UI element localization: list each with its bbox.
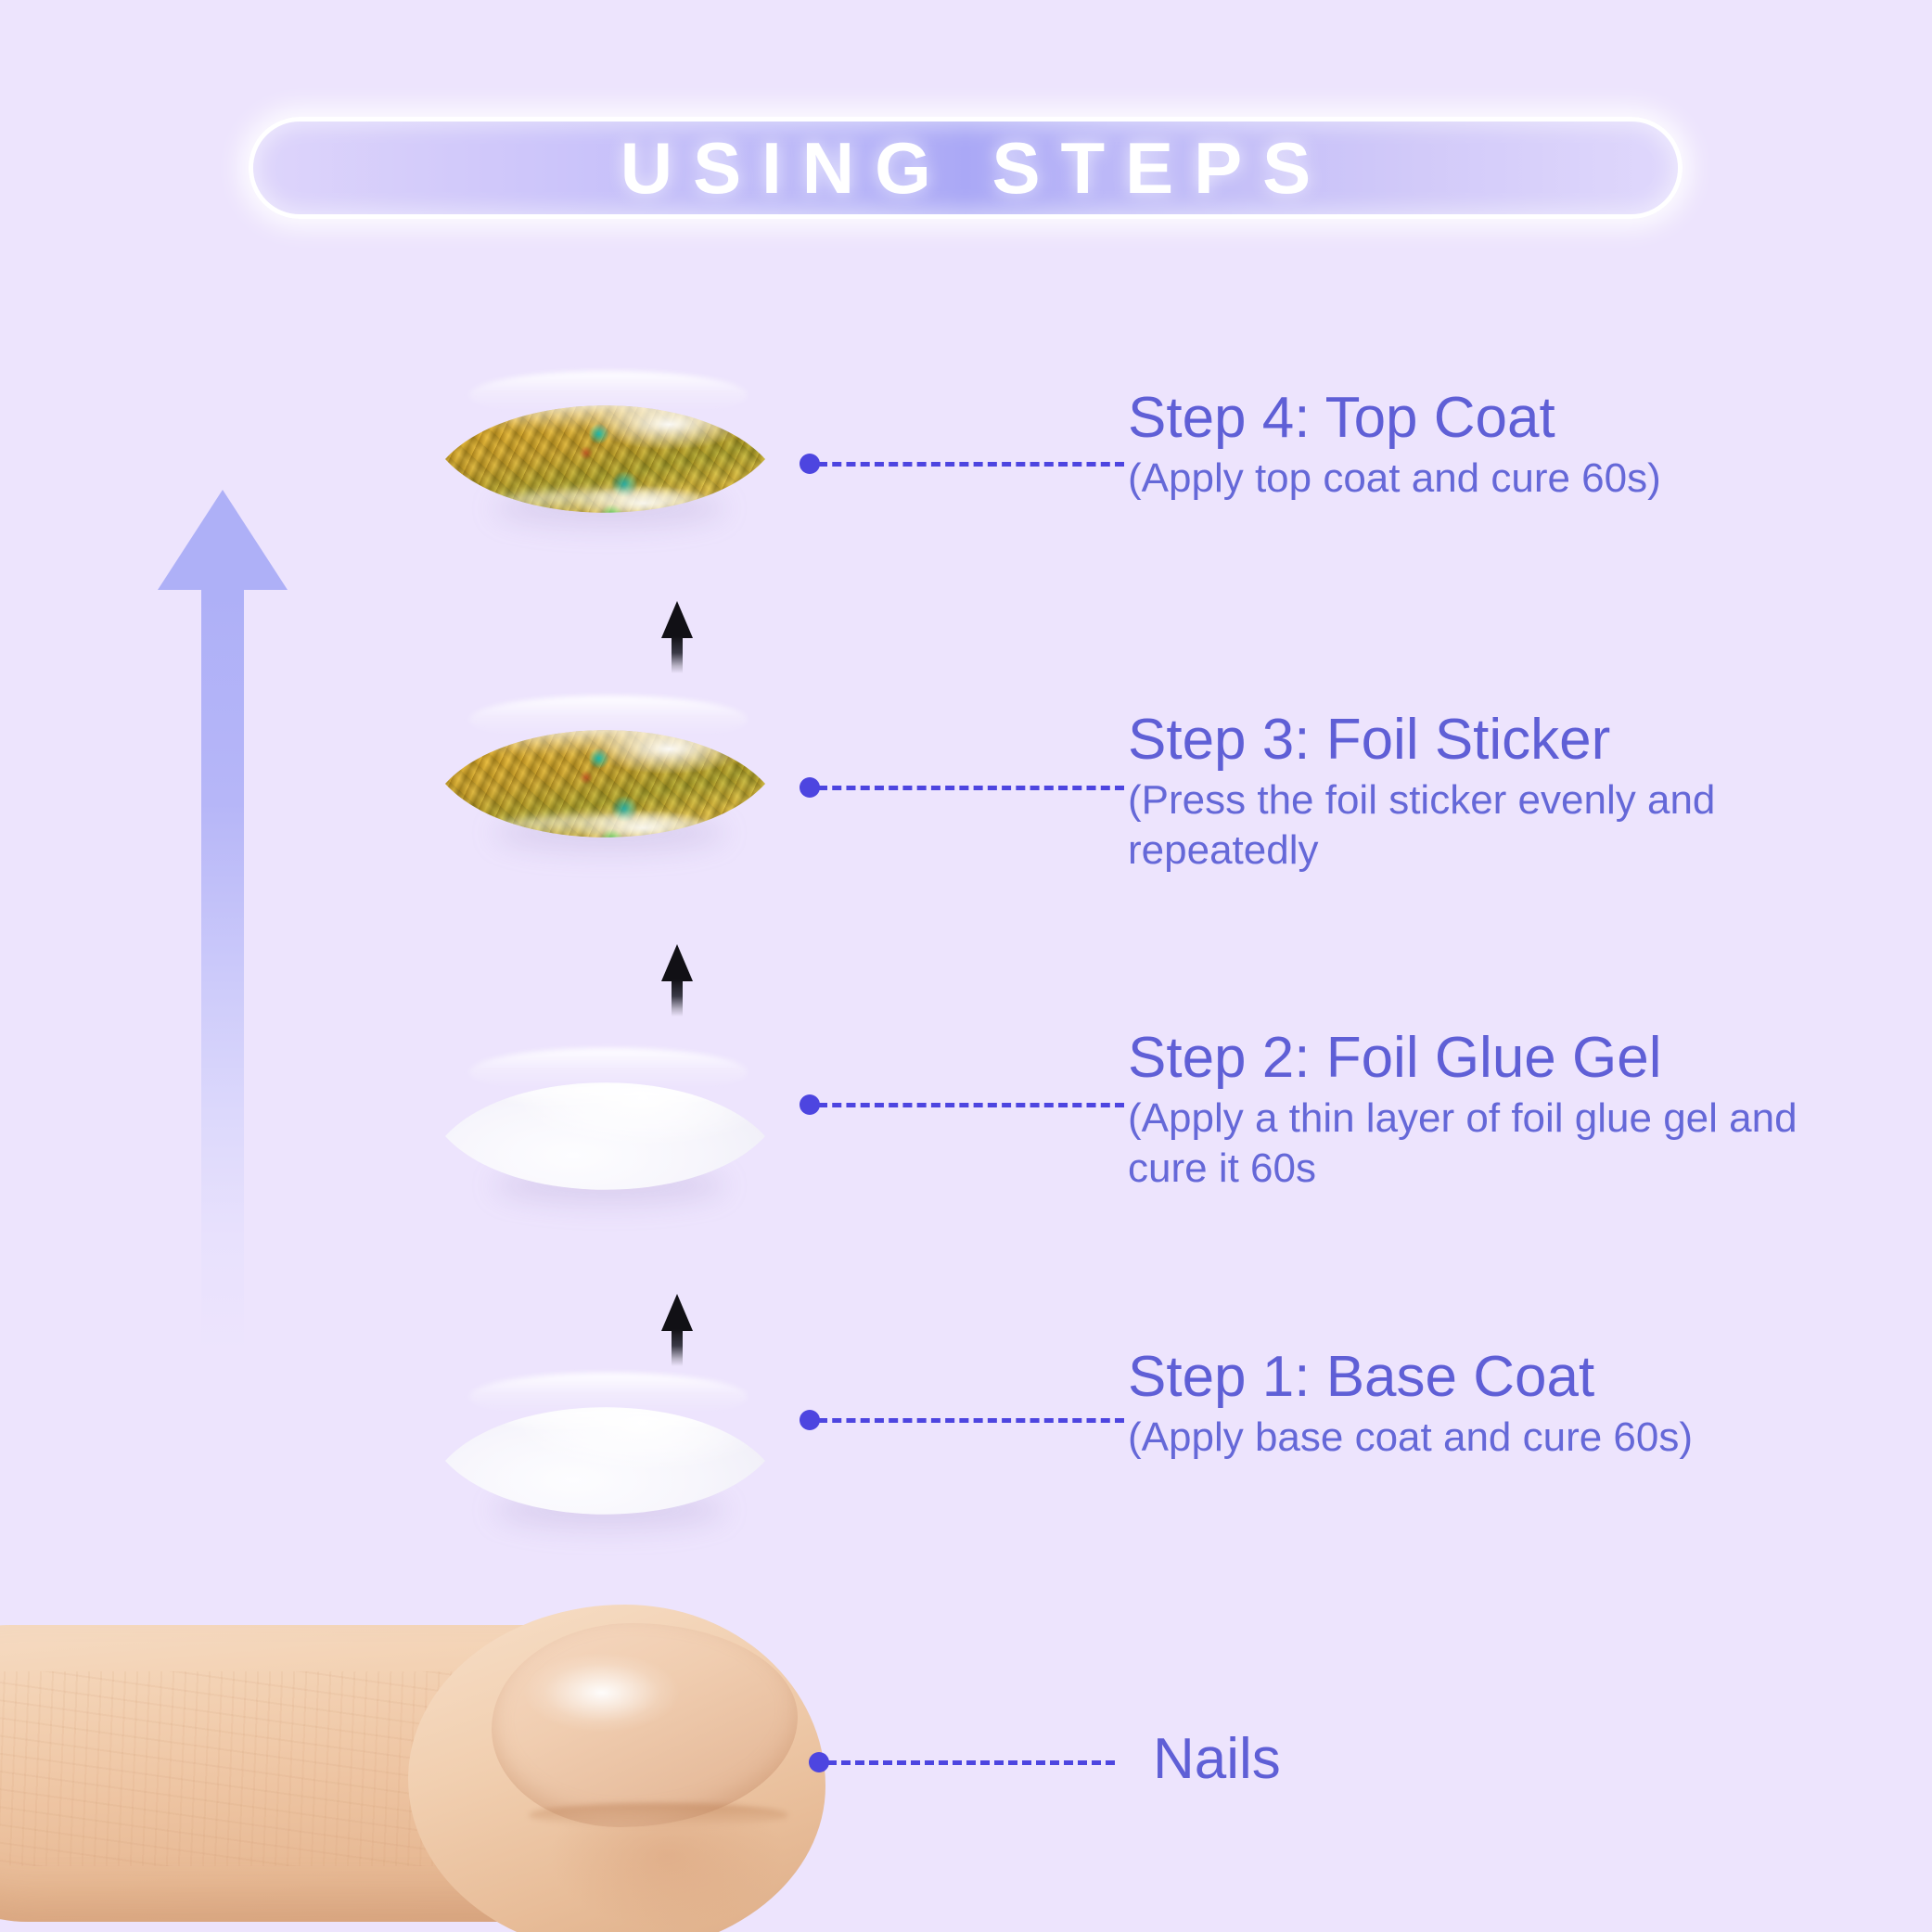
step-subtitle-4: (Apply top coat and cure 60s)	[1128, 454, 1661, 504]
glossy-rim	[469, 1048, 748, 1096]
step-title-4: Step 4: Top Coat	[1128, 388, 1661, 450]
infographic-canvas: USING STEPS Step 4: Top Coat (Apply top …	[0, 0, 1932, 1932]
flow-arrow-shaft	[672, 636, 683, 673]
step-subtitle-2: (Apply a thin layer of foil glue gel and…	[1128, 1094, 1814, 1193]
flow-arrow-1-to-2	[661, 1294, 693, 1366]
top-coat-foil-nail-layer	[445, 380, 765, 538]
nail-edge	[529, 1803, 788, 1827]
leader-line-step-3	[800, 777, 1124, 798]
glossy-rim	[469, 1373, 748, 1421]
leader-dash	[827, 1760, 1115, 1765]
flow-arrow-3-to-4	[661, 601, 693, 673]
leader-dash	[818, 786, 1124, 790]
base-coat-nail-layer	[445, 1382, 765, 1540]
flow-arrow-shaft	[672, 1329, 683, 1366]
glossy-rim	[469, 371, 748, 419]
step-subtitle-3: (Press the foil sticker evenly and repea…	[1128, 775, 1814, 875]
fingertip-photo	[0, 1582, 853, 1932]
header-title: USING STEPS	[600, 132, 1331, 204]
flow-arrow-head	[661, 944, 693, 981]
step-block-3: Step 3: Foil Sticker (Press the foil sti…	[1128, 710, 1814, 875]
leader-dot	[800, 1094, 820, 1115]
step-title-3: Step 3: Foil Sticker	[1128, 710, 1814, 772]
step-block-4: Step 4: Top Coat (Apply top coat and cur…	[1128, 388, 1661, 504]
step-title-1: Step 1: Base Coat	[1128, 1347, 1693, 1409]
upward-progress-arrow	[158, 490, 288, 1352]
foil-sticker-nail-layer	[445, 705, 765, 863]
flow-arrow-head	[661, 601, 693, 638]
step-block-2: Step 2: Foil Glue Gel (Apply a thin laye…	[1128, 1028, 1814, 1193]
leader-dot	[800, 1410, 820, 1430]
nails-label: Nails	[1153, 1731, 1281, 1788]
progress-arrow-head	[158, 490, 288, 590]
step-block-1: Step 1: Base Coat (Apply base coat and c…	[1128, 1347, 1693, 1463]
step-subtitle-1: (Apply base coat and cure 60s)	[1128, 1413, 1693, 1463]
leader-dash	[818, 1418, 1124, 1423]
leader-line-step-4	[800, 454, 1124, 474]
glossy-rim	[469, 696, 748, 744]
leader-dot	[800, 454, 820, 474]
leader-dot	[809, 1752, 829, 1772]
progress-arrow-shaft	[201, 588, 244, 1352]
leader-dash	[818, 1103, 1124, 1107]
leader-line-nails	[809, 1752, 1115, 1772]
leader-line-step-2	[800, 1094, 1124, 1115]
leader-dash	[818, 462, 1124, 467]
flow-arrow-2-to-3	[661, 944, 693, 1017]
flow-arrow-head	[661, 1294, 693, 1331]
flow-arrow-shaft	[672, 979, 683, 1017]
foil-glue-gel-nail-layer	[445, 1057, 765, 1215]
step-title-2: Step 2: Foil Glue Gel	[1128, 1028, 1814, 1090]
header-banner: USING STEPS	[249, 117, 1683, 219]
leader-dot	[800, 777, 820, 798]
leader-line-step-1	[800, 1410, 1124, 1430]
